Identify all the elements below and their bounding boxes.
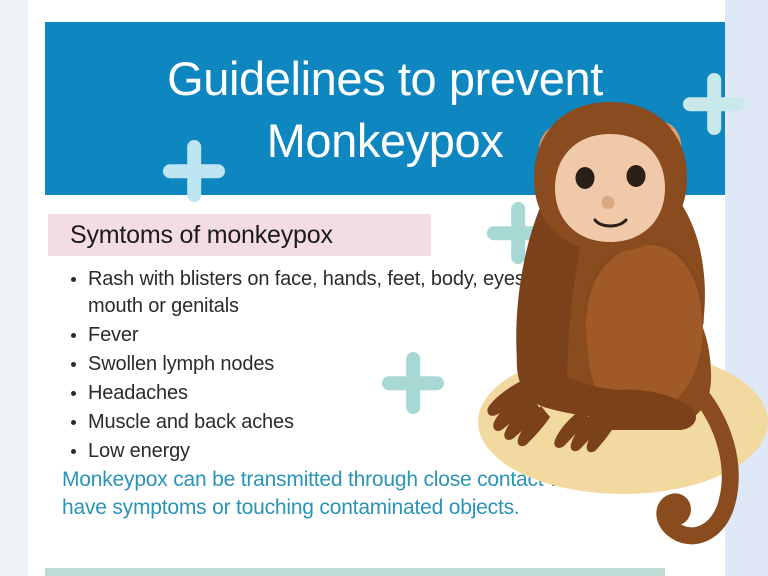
list-item: Fever: [88, 322, 558, 349]
page-title: Guidelines to prevent Monkeypox: [45, 48, 725, 172]
symptoms-heading-band: Symtoms of monkeypox: [48, 214, 431, 256]
symptoms-heading-label: Symtoms of monkeypox: [70, 221, 333, 250]
list-item: Rash with blisters on face, hands, feet,…: [88, 266, 558, 319]
header-band: Guidelines to prevent Monkeypox: [45, 22, 725, 195]
list-item: Headaches: [88, 380, 558, 407]
transmission-note: Monkeypox can be transmitted through clo…: [62, 466, 687, 522]
plus-icon-header-left: [163, 140, 225, 202]
left-margin-strip: [0, 0, 28, 576]
list-item: Muscle and back aches: [88, 409, 558, 436]
right-margin-strip: [725, 0, 768, 576]
infographic-poster: Guidelines to prevent Monkeypox Symtoms …: [0, 0, 768, 576]
symptoms-list: Rash with blisters on face, hands, feet,…: [62, 266, 558, 467]
list-item: Swollen lymph nodes: [88, 351, 558, 378]
list-item: Low energy: [88, 438, 558, 465]
bottom-accent-bar: [45, 568, 665, 576]
